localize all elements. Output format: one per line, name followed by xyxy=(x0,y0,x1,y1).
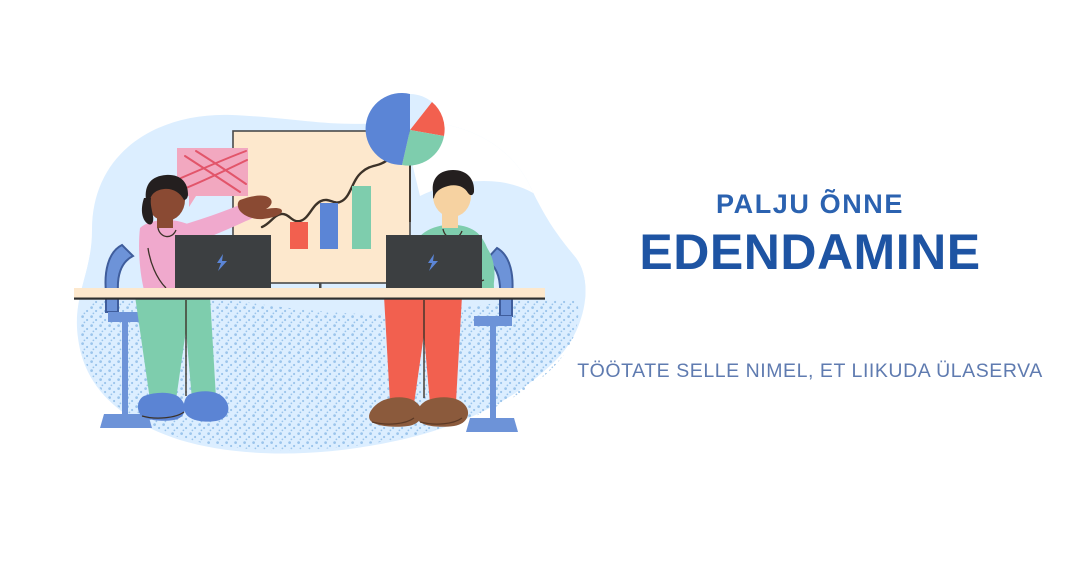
laptop-right xyxy=(386,235,482,290)
congratulations-banner: PALJU ÕNNE EDENDAMINE TÖÖTATE SELLE NIME… xyxy=(0,0,1080,565)
laptop-left xyxy=(175,235,271,290)
bar-1 xyxy=(290,222,308,249)
desk xyxy=(74,288,545,300)
text-block: PALJU ÕNNE EDENDAMINE TÖÖTATE SELLE NIME… xyxy=(540,0,1080,565)
headline-text: EDENDAMINE xyxy=(540,226,1080,279)
subline-text: TÖÖTATE SELLE NIMEL, ET LIIKUDA ÜLASERVA xyxy=(530,360,1080,383)
kicker-text: PALJU ÕNNE xyxy=(540,190,1080,218)
bar-3 xyxy=(352,186,371,249)
bar-2 xyxy=(320,203,338,249)
